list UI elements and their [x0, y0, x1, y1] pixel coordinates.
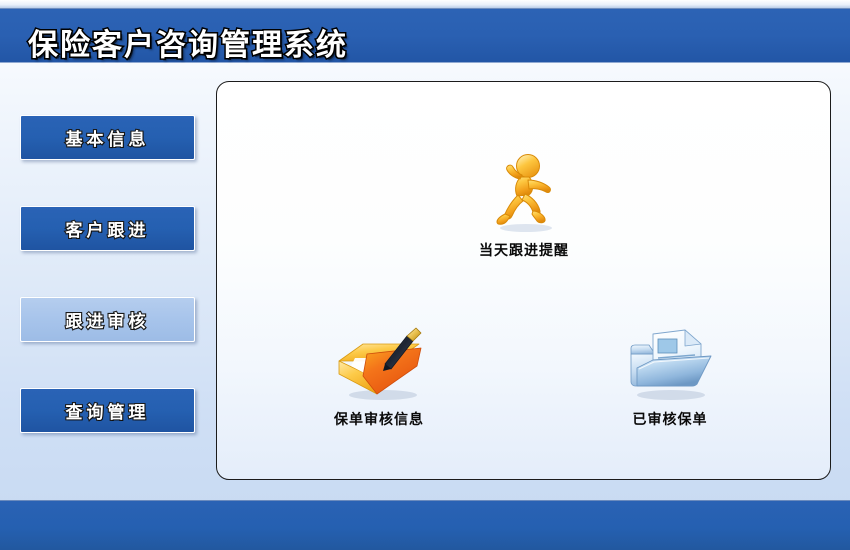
top-edge-strip	[0, 0, 850, 8]
app-title: 保险客户咨询管理系统	[28, 20, 348, 64]
sidebar-item-followup-review[interactable]: 跟进审核	[20, 297, 195, 342]
folder-pen-icon	[299, 320, 459, 402]
sidebar-item-label: 客户跟进	[66, 216, 150, 241]
sidebar-item-label: 跟进审核	[66, 307, 150, 332]
sidebar-item-basic-info[interactable]: 基本信息	[20, 115, 195, 160]
sidebar-item-customer-followup[interactable]: 客户跟进	[20, 206, 195, 251]
tile-policy-review-info[interactable]: 保单审核信息	[299, 320, 459, 429]
tile-label: 保单审核信息	[299, 409, 459, 429]
sidebar-item-label: 基本信息	[66, 125, 150, 150]
application-window: 保险客户咨询管理系统 基本信息 客户跟进 跟进审核 查询管理	[0, 0, 850, 550]
running-man-icon	[444, 151, 604, 233]
app-footer	[0, 500, 850, 550]
sidebar-navigation: 基本信息 客户跟进 跟进审核 查询管理	[0, 64, 205, 500]
app-header: 保险客户咨询管理系统	[0, 8, 850, 63]
folder-documents-icon	[590, 320, 750, 402]
sidebar-item-label: 查询管理	[66, 398, 150, 423]
main-content-panel: 当天跟进提醒	[216, 81, 831, 480]
tile-reviewed-policy[interactable]: 已审核保单	[590, 320, 750, 429]
tile-label: 已审核保单	[590, 409, 750, 429]
sidebar-item-query-management[interactable]: 查询管理	[20, 388, 195, 433]
tile-label: 当天跟进提醒	[444, 240, 604, 260]
tile-daily-followup-reminder[interactable]: 当天跟进提醒	[444, 151, 604, 260]
